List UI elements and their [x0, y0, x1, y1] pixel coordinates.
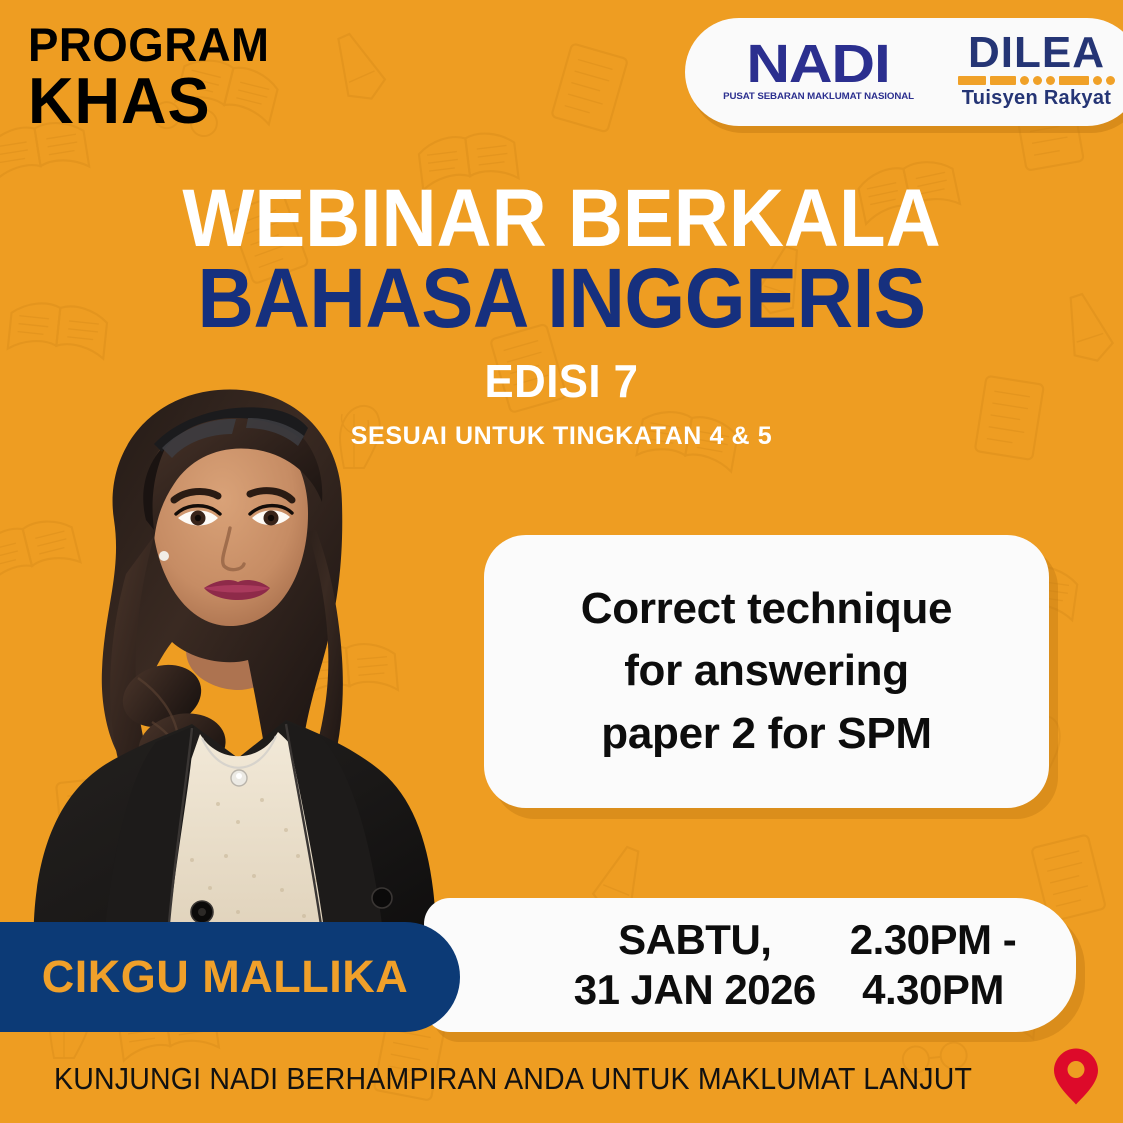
speaker-name-pill: CIKGU MALLIKA [0, 922, 460, 1032]
poster-canvas: PROGRAM KHAS NADI PUSAT SEBARAN MAKLUMAT… [0, 0, 1123, 1123]
topic-line-1: Correct technique [581, 578, 952, 640]
headline-primary: WEBINAR BERKALA [39, 178, 1083, 260]
schedule-time-start: 2.30PM - [850, 915, 1016, 965]
program-badge: PROGRAM KHAS [28, 22, 277, 133]
dilea-logo: DILEA Tuisyen Rakyat [958, 34, 1115, 111]
nadi-wordmark: NADI [747, 42, 890, 86]
headline-secondary: BAHASA INGGERIS [39, 256, 1083, 342]
dilea-tagline: Tuisyen Rakyat [962, 87, 1111, 110]
schedule-time-column: 2.30PM - 4.30PM [850, 915, 1016, 1014]
audience-label: SESUAI UNTUK TINGKATAN 4 & 5 [0, 422, 1123, 451]
dilea-wordmark: DILEA [968, 34, 1105, 73]
nadi-logo: NADI PUSAT SEBARAN MAKLUMAT NASIONAL [725, 42, 912, 101]
schedule-date: 31 JAN 2026 [574, 965, 816, 1015]
logo-card: NADI PUSAT SEBARAN MAKLUMAT NASIONAL DIL… [685, 18, 1123, 126]
map-pin-icon [1053, 1048, 1099, 1111]
schedule-date-column: SABTU, 31 JAN 2026 [574, 915, 816, 1014]
headline-block: WEBINAR BERKALA BAHASA INGGERIS EDISI 7 … [0, 178, 1123, 451]
schedule-card: SABTU, 31 JAN 2026 2.30PM - 4.30PM [424, 898, 1076, 1032]
program-badge-line2: KHAS [28, 69, 269, 133]
dilea-dash-decoration [958, 76, 1115, 85]
topic-card: Correct technique for answering paper 2 … [484, 535, 1049, 808]
footer-bar: KUNJUNGI NADI BERHAMPIRAN ANDA UNTUK MAK… [0, 1035, 1123, 1123]
nadi-tagline: PUSAT SEBARAN MAKLUMAT NASIONAL [723, 91, 914, 102]
program-badge-line1: PROGRAM [28, 22, 269, 67]
speaker-name: CIKGU MALLIKA [42, 951, 408, 1003]
schedule-time-end: 4.30PM [850, 965, 1016, 1015]
topic-line-2: for answering [624, 640, 909, 702]
logo-divider [934, 39, 936, 105]
schedule-day: SABTU, [574, 915, 816, 965]
edition-label: EDISI 7 [28, 354, 1095, 408]
footer-text: KUNJUNGI NADI BERHAMPIRAN ANDA UNTUK MAK… [54, 1061, 972, 1097]
topic-line-3: paper 2 for SPM [601, 703, 931, 765]
